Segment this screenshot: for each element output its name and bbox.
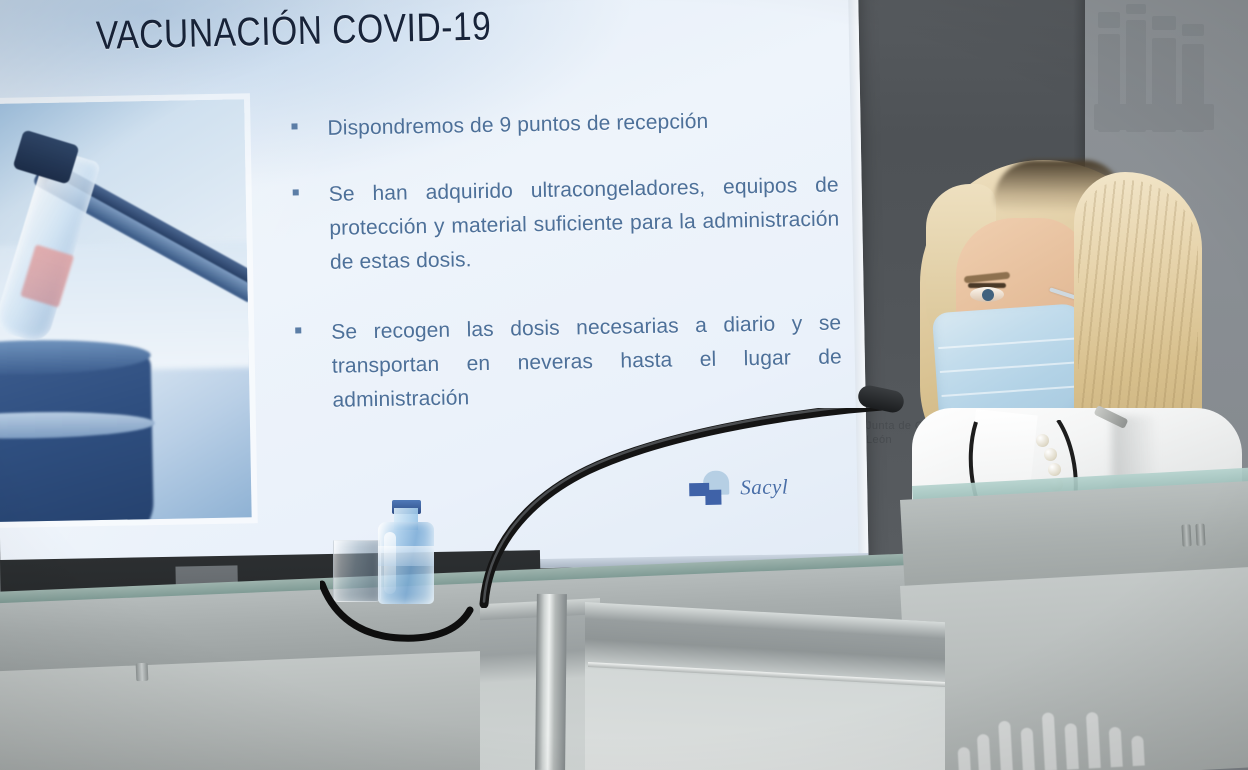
slide-bullet-list: Dispondremos de 9 puntos de recepción Se…: [285, 102, 843, 442]
projection-screen: VACUNACIÓN COVID-19 Dispondremos de 9 pu…: [0, 0, 869, 578]
desk-fittings-right: [1181, 523, 1208, 546]
water-bottle: [378, 500, 434, 604]
bullet-text: Dispondremos de 9 puntos de recepción: [327, 110, 708, 140]
slide-title: VACUNACIÓN COVID-19: [95, 4, 491, 59]
bottle-label: [378, 546, 434, 566]
sacyl-logo-text: Sacyl: [740, 474, 788, 500]
bullet-point-icon: [295, 327, 301, 333]
list-item: Se han adquirido ultracongeladores, equi…: [286, 168, 840, 280]
podium-corner-post: [535, 594, 567, 770]
bullet-point-icon: [291, 123, 297, 129]
castilla-leon-emblem-icon: [1092, 4, 1238, 154]
bullet-point-icon: [293, 189, 299, 195]
embossed-crown-emblem-icon: [953, 694, 1166, 770]
slide-photo-vial: [0, 99, 252, 522]
press-conference-photo: Junta de Castilla y León VACUNACIÓN COVI…: [0, 0, 1248, 770]
bullet-text: Se recogen las dosis necesarias a diario…: [331, 312, 842, 412]
desk-fitting: [136, 663, 149, 681]
eye: [970, 287, 1004, 302]
list-item: Se recogen las dosis necesarias a diario…: [289, 307, 843, 419]
bullet-text: Se han adquirido ultracongeladores, equi…: [329, 173, 840, 273]
sacyl-cross-icon: [689, 471, 732, 506]
sacyl-logo: Sacyl: [689, 469, 789, 505]
drinking-glass: [333, 540, 381, 602]
list-item: Dispondremos de 9 puntos de recepción: [285, 102, 838, 146]
